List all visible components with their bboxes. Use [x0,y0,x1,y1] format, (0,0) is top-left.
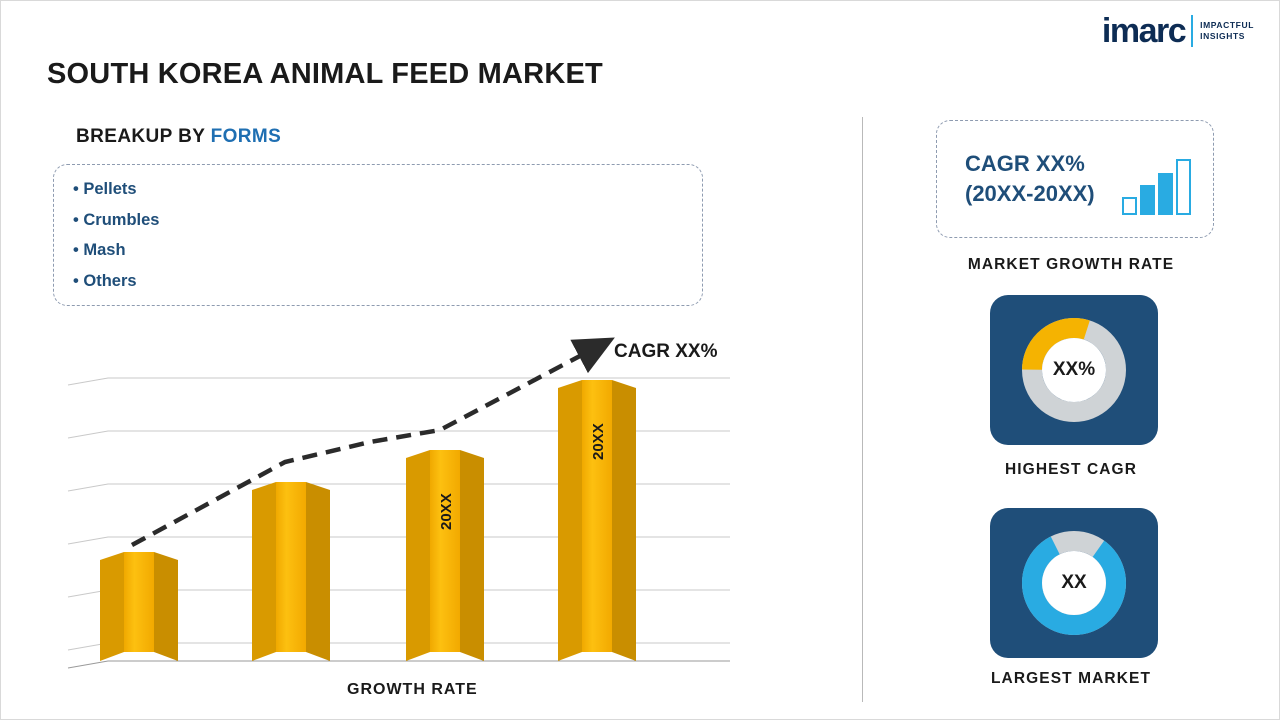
list-item: Pellets [73,174,159,205]
largest-market-tile: XX [990,508,1158,658]
bar-1 [100,552,178,661]
bar-chart-icon [1122,159,1191,215]
highest-cagr-tile: XX% [990,295,1158,445]
bar-label-3: 20XX [438,493,455,530]
logo-wordmark: imarc [1102,14,1185,48]
growth-bar-chart: 20XX 20XX [40,330,780,710]
logo-tagline-line2: INSIGHTS [1200,31,1254,42]
cagr-value: CAGR XX% [965,149,1095,179]
breakup-heading-accent: FORMS [211,126,282,147]
cagr-period: (20XX-20XX) [965,179,1095,209]
bar-3 [406,450,484,661]
donut-bottom-value: XX [1018,527,1130,639]
page-title: SOUTH KOREA ANIMAL FEED MARKET [47,58,603,91]
donut-top-value: XX% [1018,314,1130,426]
section-divider [862,117,863,702]
bar-4 [558,380,636,661]
bar-label-4: 20XX [590,423,607,460]
logo-text: imarc [1102,12,1185,50]
breakup-heading: BREAKUP BY FORMS [76,126,281,148]
imarc-logo: imarc IMPACTFUL INSIGHTS [1102,14,1254,48]
donut-chart-top: XX% [1018,314,1130,426]
bar-2 [252,482,330,661]
caption-highest-cagr: HIGHEST CAGR [862,461,1280,479]
chart-cagr-annotation: CAGR XX% [614,341,717,363]
list-item: Mash [73,235,159,266]
logo-divider [1191,15,1193,47]
donut-chart-bottom: XX [1018,527,1130,639]
logo-tagline: IMPACTFUL INSIGHTS [1200,20,1254,43]
market-growth-rate-box: CAGR XX% (20XX-20XX) [936,120,1214,238]
list-item: Crumbles [73,205,159,236]
chart-svg [40,330,780,710]
breakup-heading-prefix: BREAKUP BY [76,126,211,147]
chart-axis-title: GROWTH RATE [347,681,478,699]
logo-tagline-line1: IMPACTFUL [1200,20,1254,31]
cagr-value-block: CAGR XX% (20XX-20XX) [965,149,1095,209]
list-item: Others [73,266,159,297]
caption-market-growth-rate: MARKET GROWTH RATE [862,256,1280,274]
breakup-list: Pellets Crumbles Mash Others [73,174,159,296]
caption-largest-market: LARGEST MARKET [862,670,1280,688]
